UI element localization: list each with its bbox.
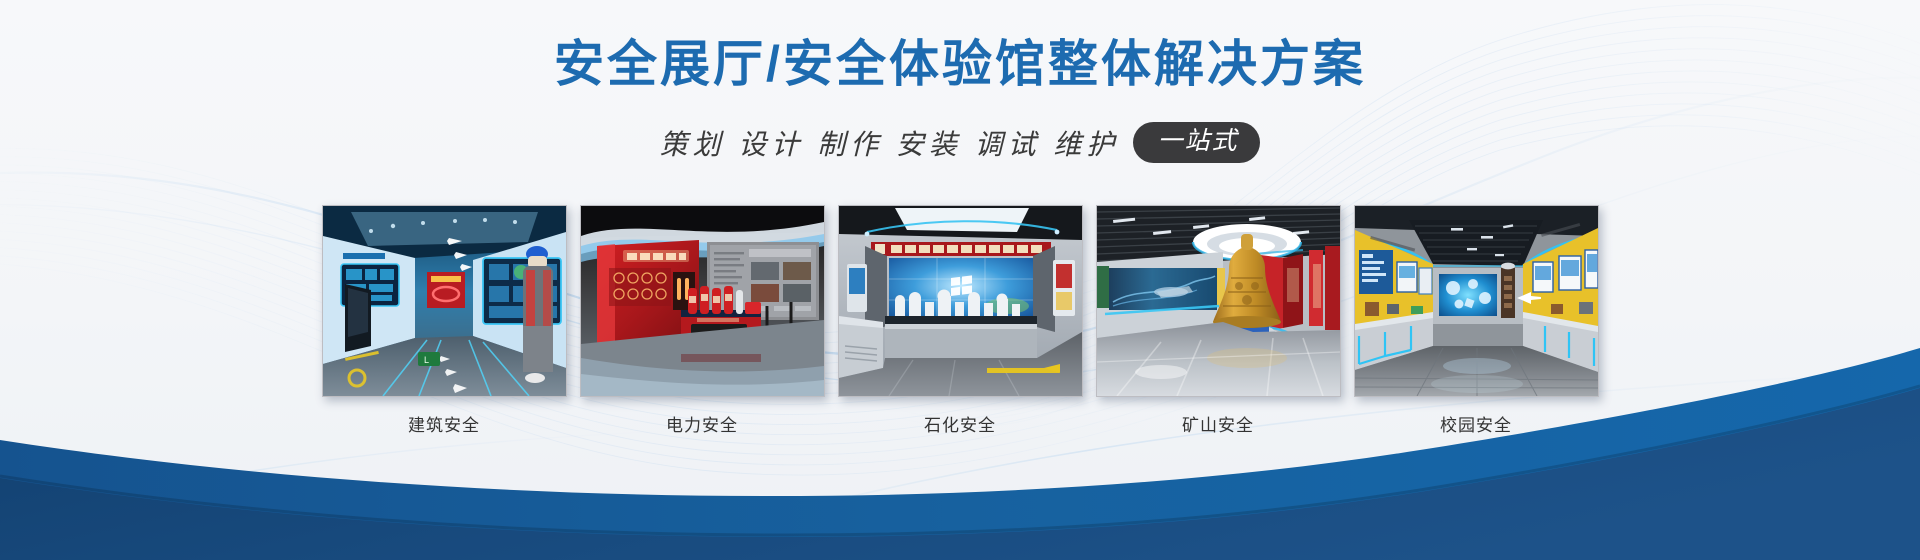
electric-power-safety-hall-thumbnail[interactable] [580, 205, 825, 397]
case-card-caption: 建筑安全 [408, 411, 480, 436]
case-card-caption: 矿山安全 [1182, 411, 1254, 436]
case-card[interactable]: L 建筑安全 [323, 205, 566, 436]
case-card[interactable]: 电力安全 [581, 205, 824, 436]
case-card[interactable]: 矿山安全 [1097, 205, 1340, 436]
service-steps-text: 策划 设计 制作 安装 调试 维护 [660, 123, 1120, 163]
svg-text:L: L [424, 355, 429, 365]
case-card[interactable]: 校园安全 [1355, 205, 1598, 436]
case-card-caption: 电力安全 [666, 411, 738, 436]
subtitle-row: 策划 设计 制作 安装 调试 维护 一站式 [0, 122, 1920, 163]
mine-safety-hall-thumbnail[interactable] [1096, 205, 1341, 397]
case-card-caption: 校园安全 [1440, 411, 1512, 436]
case-card-list: L 建筑安全 [0, 205, 1920, 436]
petrochemical-safety-hall-thumbnail[interactable] [838, 205, 1083, 397]
construction-safety-hall-thumbnail[interactable]: L [322, 205, 567, 397]
case-card-caption: 石化安全 [924, 411, 996, 436]
one-stop-badge: 一站式 [1133, 122, 1260, 163]
promo-banner: 安全展厅/安全体验馆整体解决方案 策划 设计 制作 安装 调试 维护 一站式 [0, 0, 1920, 560]
page-title: 安全展厅/安全体验馆整体解决方案 [0, 24, 1920, 96]
campus-safety-hall-thumbnail[interactable] [1354, 205, 1599, 397]
case-card[interactable]: 石化安全 [839, 205, 1082, 436]
